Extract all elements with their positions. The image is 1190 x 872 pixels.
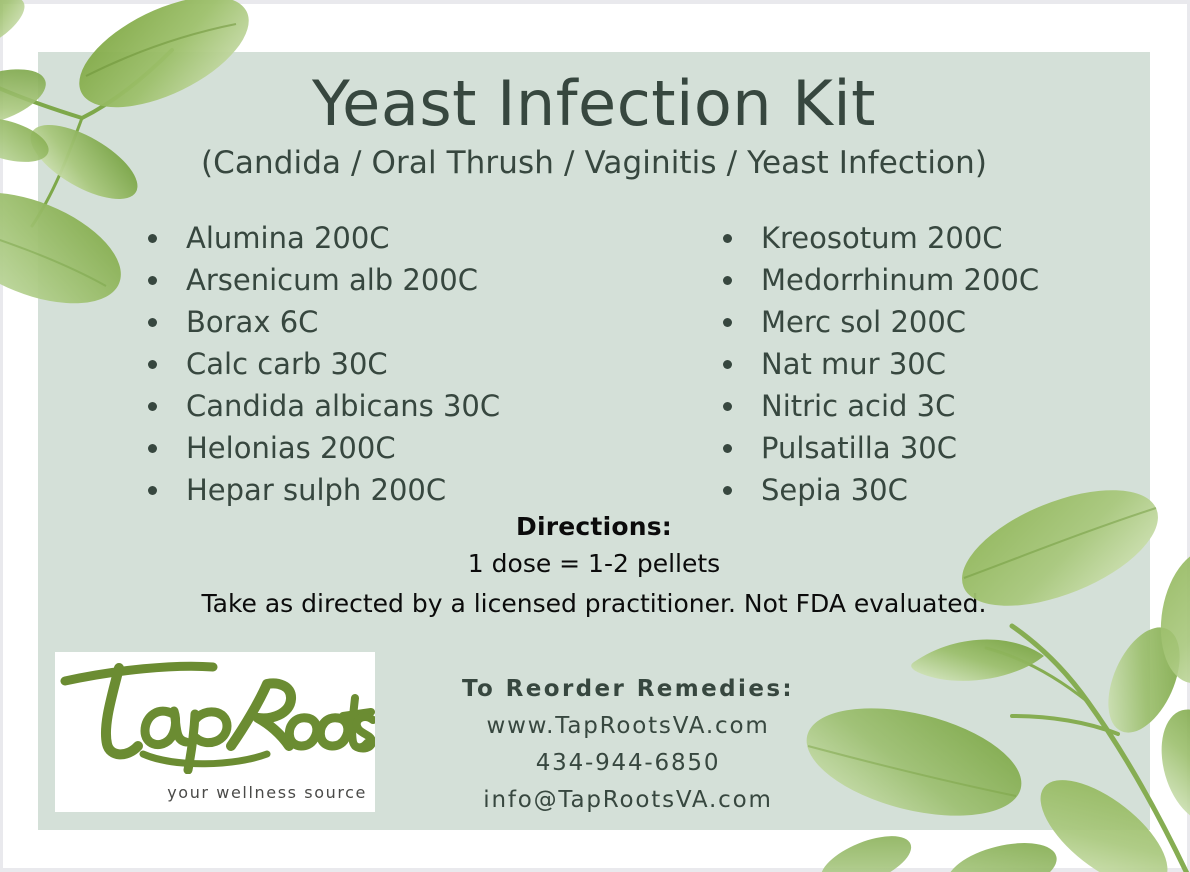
reorder-info: To Reorder Remedies: www.TapRootsVA.com … — [388, 670, 868, 819]
list-item: Nitric acid 3C — [713, 385, 1150, 427]
remedy-label: Alumina 200C — [186, 221, 390, 255]
page-edge-left — [0, 0, 3, 872]
list-item: Kreosotum 200C — [713, 217, 1150, 259]
bullet-icon — [148, 360, 157, 369]
taproots-logo: your wellness source — [55, 652, 375, 812]
remedy-label: Helonias 200C — [186, 431, 396, 465]
remedy-label: Arsenicum alb 200C — [186, 263, 478, 297]
bullet-icon — [148, 444, 157, 453]
remedy-label: Borax 6C — [186, 305, 318, 339]
remedy-label: Hepar sulph 200C — [186, 473, 446, 507]
remedy-kit-card: Yeast Infection Kit (Candida / Oral Thru… — [38, 52, 1150, 830]
bullet-icon — [148, 276, 157, 285]
bullet-icon — [723, 360, 732, 369]
directions-disclaimer: Take as directed by a licensed practitio… — [38, 584, 1150, 624]
list-item: Helonias 200C — [138, 427, 598, 469]
header-block: Yeast Infection Kit (Candida / Oral Thru… — [38, 72, 1150, 181]
remedy-column-left: Alumina 200C Arsenicum alb 200C Borax 6C… — [38, 217, 598, 511]
reorder-email[interactable]: info@TapRootsVA.com — [388, 782, 868, 819]
list-item: Pulsatilla 30C — [713, 427, 1150, 469]
remedy-label: Sepia 30C — [761, 473, 908, 507]
remedy-label: Nitric acid 3C — [761, 389, 955, 423]
logo-tagline: your wellness source — [55, 783, 367, 802]
page-subtitle: (Candida / Oral Thrush / Vaginitis / Yea… — [38, 145, 1150, 181]
remedy-label: Kreosotum 200C — [761, 221, 1003, 255]
remedy-column-right: Kreosotum 200C Medorrhinum 200C Merc sol… — [598, 217, 1150, 511]
bullet-icon — [723, 318, 732, 327]
bullet-icon — [148, 402, 157, 411]
remedy-label: Medorrhinum 200C — [761, 263, 1039, 297]
directions-heading: Directions: — [38, 510, 1150, 544]
directions-block: Directions: 1 dose = 1-2 pellets Take as… — [38, 510, 1150, 624]
remedy-list-right: Kreosotum 200C Medorrhinum 200C Merc sol… — [713, 217, 1150, 511]
page-edge-bottom — [0, 868, 1190, 872]
remedy-list-left: Alumina 200C Arsenicum alb 200C Borax 6C… — [138, 217, 598, 511]
list-item: Hepar sulph 200C — [138, 469, 598, 511]
reorder-phone[interactable]: 434-944-6850 — [388, 745, 868, 782]
remedy-label: Candida albicans 30C — [186, 389, 500, 423]
bullet-icon — [148, 486, 157, 495]
list-item: Calc carb 30C — [138, 343, 598, 385]
bullet-icon — [723, 402, 732, 411]
remedy-label: Merc sol 200C — [761, 305, 966, 339]
list-item: Sepia 30C — [713, 469, 1150, 511]
list-item: Borax 6C — [138, 301, 598, 343]
list-item: Merc sol 200C — [713, 301, 1150, 343]
list-item: Candida albicans 30C — [138, 385, 598, 427]
remedy-label: Nat mur 30C — [761, 347, 946, 381]
list-item: Medorrhinum 200C — [713, 259, 1150, 301]
bullet-icon — [723, 486, 732, 495]
taproots-wordmark-icon — [55, 654, 375, 774]
bullet-icon — [148, 318, 157, 327]
list-item: Alumina 200C — [138, 217, 598, 259]
page-title: Yeast Infection Kit — [38, 72, 1150, 136]
bullet-icon — [723, 444, 732, 453]
bullet-icon — [148, 234, 157, 243]
reorder-heading: To Reorder Remedies: — [388, 670, 868, 708]
remedy-label: Pulsatilla 30C — [761, 431, 957, 465]
list-item: Arsenicum alb 200C — [138, 259, 598, 301]
directions-dose: 1 dose = 1-2 pellets — [38, 544, 1150, 584]
remedy-columns: Alumina 200C Arsenicum alb 200C Borax 6C… — [38, 217, 1150, 511]
footer-block: your wellness source To Reorder Remedies… — [38, 652, 1150, 830]
bullet-icon — [723, 276, 732, 285]
reorder-website[interactable]: www.TapRootsVA.com — [388, 708, 868, 745]
list-item: Nat mur 30C — [713, 343, 1150, 385]
bullet-icon — [723, 234, 732, 243]
remedy-label: Calc carb 30C — [186, 347, 388, 381]
page-canvas: Yeast Infection Kit (Candida / Oral Thru… — [0, 0, 1190, 872]
page-edge-top — [0, 0, 1190, 4]
